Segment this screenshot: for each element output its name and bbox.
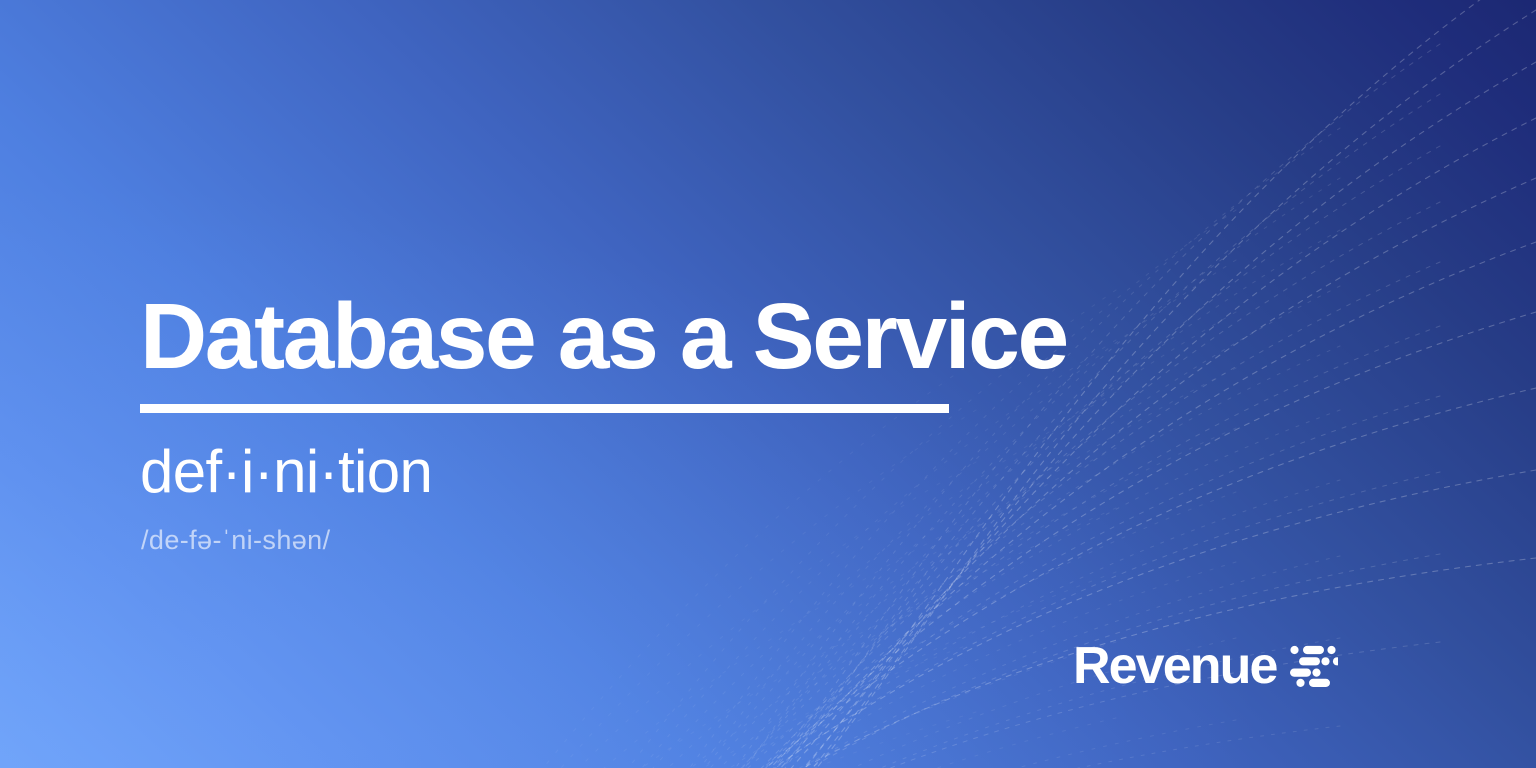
syllabified-word: def·i·ni·tion (140, 437, 432, 507)
page-title: Database as a Service (140, 286, 1067, 386)
title-divider-rule (140, 404, 949, 413)
pronunciation-text: /de-fə-ˈni-shən/ (141, 522, 330, 558)
card-content: Database as a Service def·i·ni·tion /de-… (140, 0, 1140, 768)
revenue-dash-dot-mark (1290, 645, 1338, 687)
brand-wordmark: Revenue (1073, 638, 1276, 694)
definition-card-canvas: Database as a Service def·i·ni·tion /de-… (0, 0, 1536, 768)
brand-logo[interactable]: Revenue (1073, 638, 1338, 694)
